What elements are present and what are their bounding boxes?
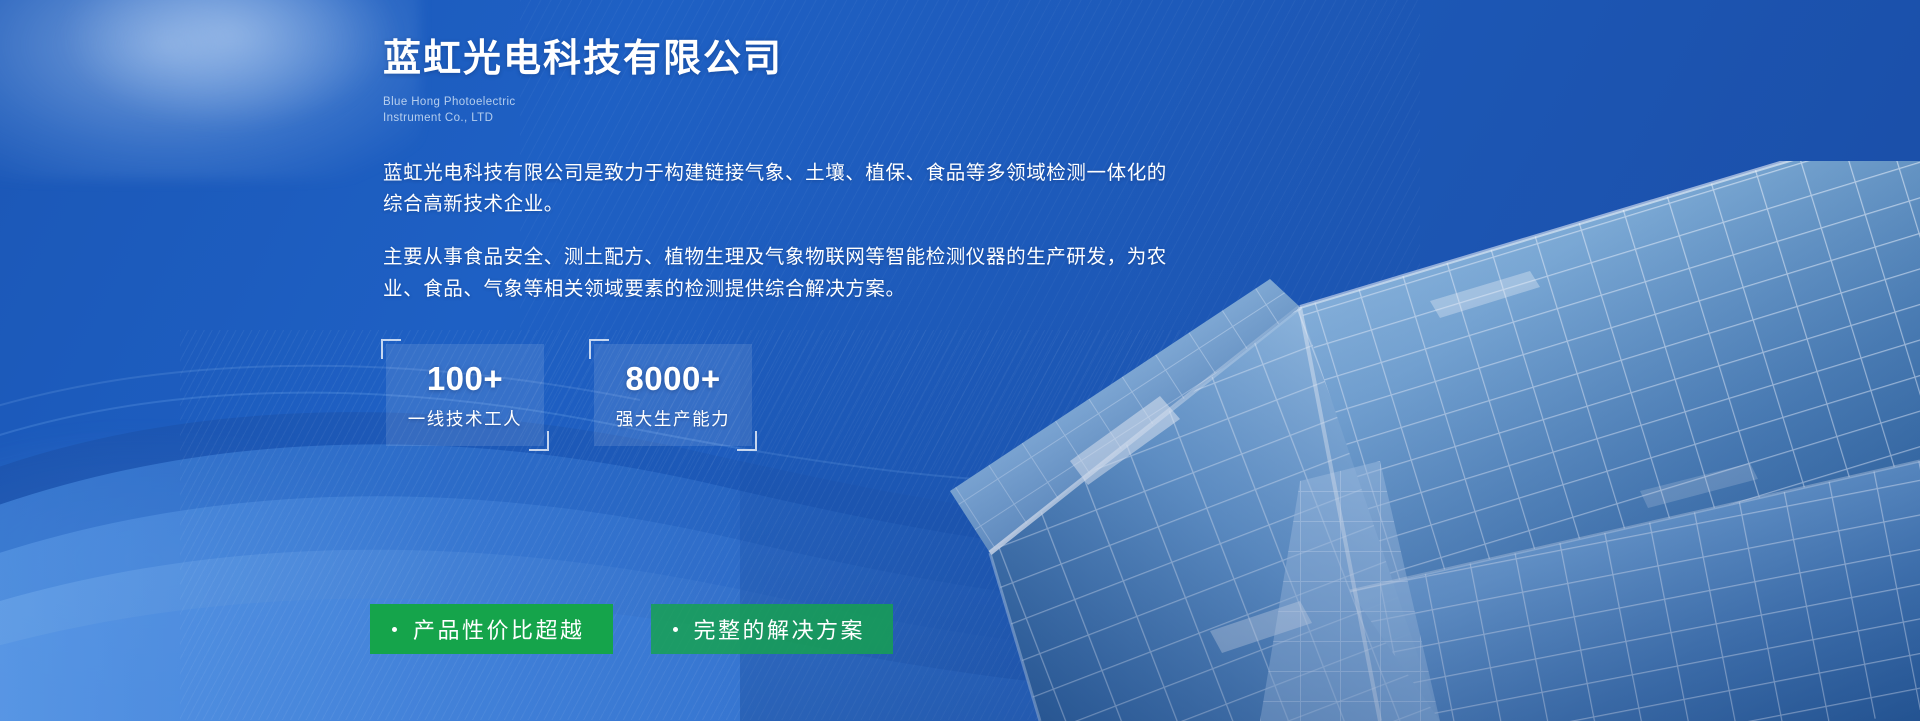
stat-card-workers: 100+ 一线技术工人 [386, 344, 544, 446]
cloud-glow-secondary [60, 0, 400, 130]
company-subtitle-english: Blue Hong Photoelectric Instrument Co., … [383, 94, 1563, 127]
cloud-glow-top-left [0, 0, 420, 180]
feature-tag-solution: 完整的解决方案 [651, 604, 894, 654]
stat-value: 100+ [427, 362, 503, 395]
subtitle-line-2: Instrument Co., LTD [383, 110, 1563, 127]
stat-value: 8000+ [625, 362, 720, 395]
feature-tag-label: 产品性价比超越 [413, 613, 585, 645]
subtitle-line-1: Blue Hong Photoelectric [383, 94, 1563, 111]
corner-bracket-bottom-right-icon [529, 431, 549, 451]
stat-card-capacity: 8000+ 强大生产能力 [594, 344, 752, 446]
feature-tag-group: 产品性价比超越 完整的解决方案 [370, 604, 893, 654]
corner-bracket-top-left-icon [589, 339, 609, 359]
intro-paragraph-1: 蓝虹光电科技有限公司是致力于构建链接气象、土壤、植保、食品等多领域检测一体化的综… [383, 158, 1183, 221]
corner-bracket-bottom-right-icon [737, 431, 757, 451]
company-intro-banner: 蓝虹光电科技有限公司 Blue Hong Photoelectric Instr… [0, 0, 1920, 721]
banner-content: 蓝虹光电科技有限公司 Blue Hong Photoelectric Instr… [383, 36, 1563, 446]
bullet-dot-icon [673, 627, 678, 632]
stat-label: 强大生产能力 [616, 411, 731, 429]
company-title: 蓝虹光电科技有限公司 [383, 36, 1563, 84]
feature-tag-value: 产品性价比超越 [370, 604, 613, 654]
feature-tag-label: 完整的解决方案 [694, 613, 866, 645]
intro-paragraph-2: 主要从事食品安全、测土配方、植物生理及气象物联网等智能检测仪器的生产研发，为农业… [383, 242, 1183, 305]
statistics-group: 100+ 一线技术工人 8000+ 强大生产能力 [383, 344, 1563, 446]
stat-label: 一线技术工人 [408, 411, 523, 429]
bullet-dot-icon [392, 627, 397, 632]
corner-bracket-top-left-icon [381, 339, 401, 359]
